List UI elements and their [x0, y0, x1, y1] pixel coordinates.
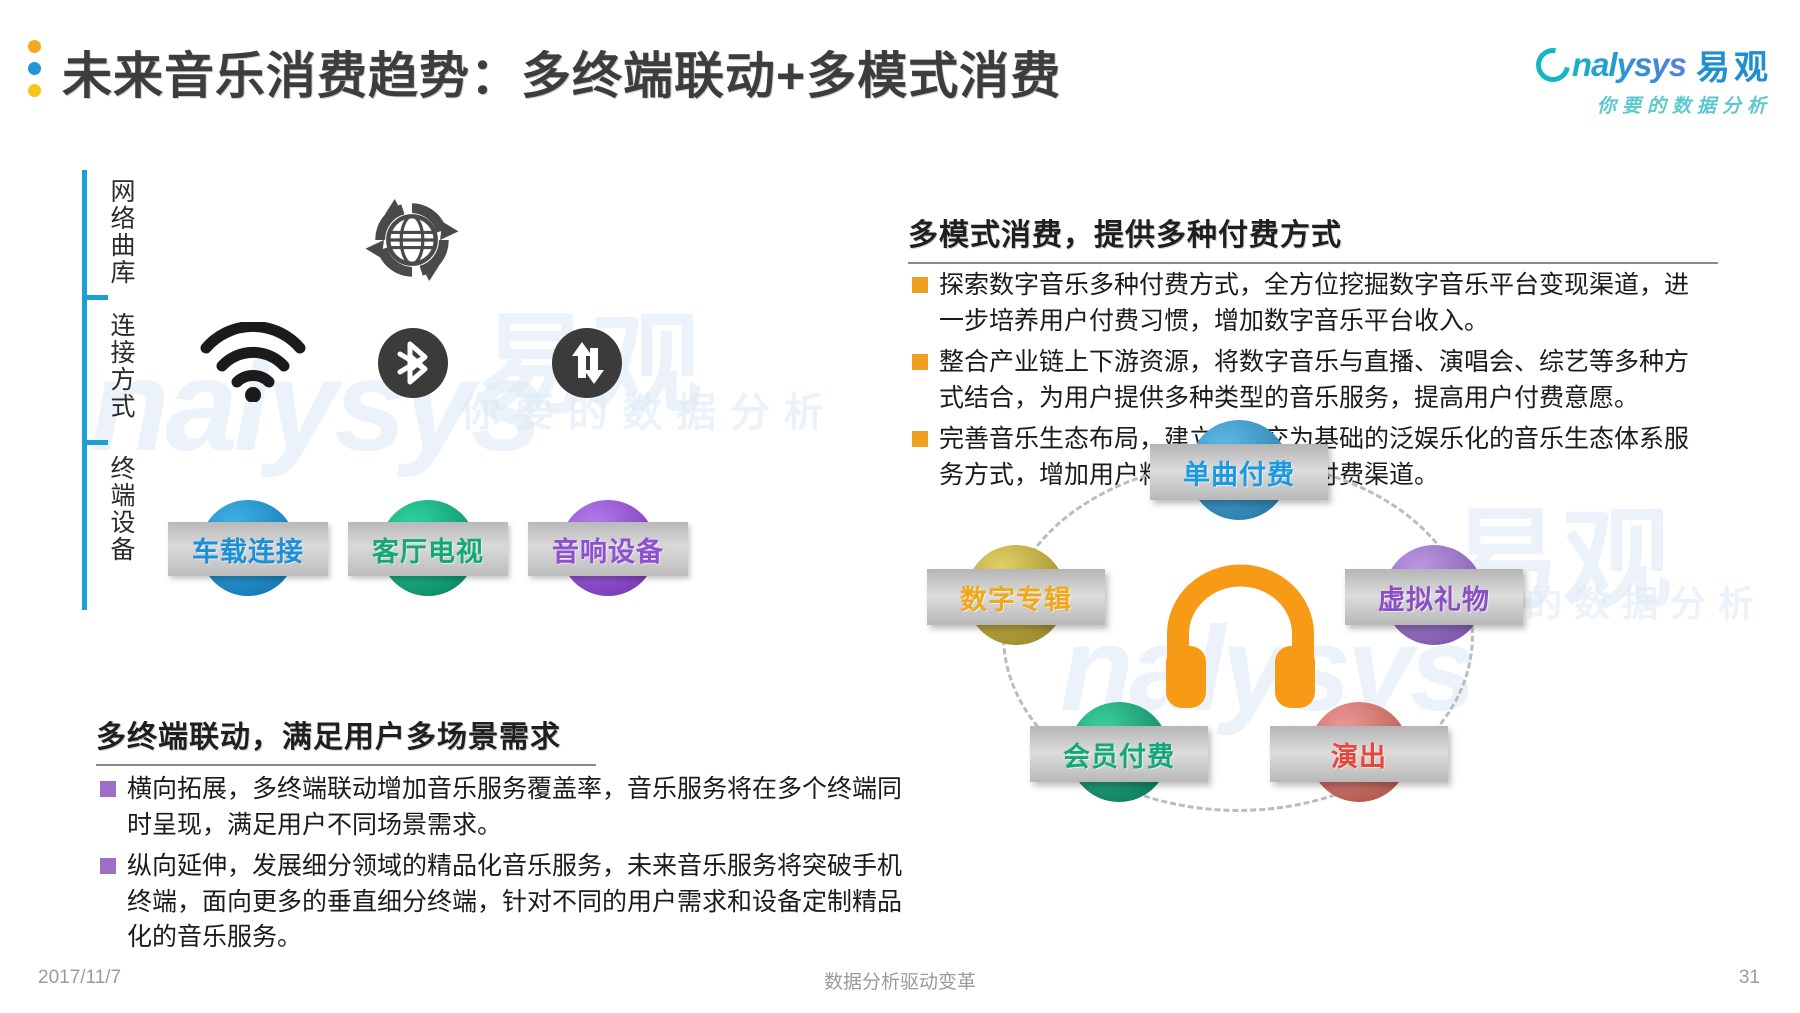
node-label: 演出: [1331, 735, 1387, 774]
node-label: 数字专辑: [960, 578, 1072, 617]
device-badge-tv[interactable]: 客厅电视: [348, 500, 508, 596]
logo-mark-icon: [1529, 41, 1576, 88]
list-item: 探索数字音乐多种付费方式，全方位挖掘数字音乐平台变现渠道，进一步培养用户付费习惯…: [912, 268, 1712, 339]
payment-cycle-diagram: 单曲付费 虚拟礼物 演出 会员付费 数字: [960, 430, 1520, 850]
bullet-marker-icon: [100, 781, 116, 797]
page-title: 未来音乐消费趋势：多终端联动+多模式消费: [62, 36, 1061, 108]
list-item: 整合产业链上下游资源，将数字音乐与直播、演唱会、综艺等多种方式结合，为用户提供多…: [912, 345, 1712, 416]
device-badge-speaker[interactable]: 音响设备: [528, 500, 688, 596]
right-section-heading: 多模式消费，提供多种付费方式: [908, 210, 1718, 264]
header-dots-decoration: [28, 40, 42, 106]
bullet-marker-icon: [912, 354, 928, 370]
device-label: 车载连接: [192, 530, 304, 569]
node-label: 会员付费: [1063, 735, 1175, 774]
device-ribbon: 客厅电视: [348, 522, 508, 576]
slide-root: nalysys 易观 你要的数据分析 nalysys 易观 你要的数据分析 未来…: [0, 0, 1800, 1013]
logo-text-cn: 易观: [1696, 40, 1772, 89]
bluetooth-icon: [378, 328, 448, 398]
logo-tagline: 你要的数据分析: [1536, 91, 1772, 118]
axis-label-terminal-devices: 终端设备: [92, 455, 134, 567]
left-section-rule: [96, 764, 596, 766]
headphone-icon: [1158, 550, 1323, 710]
axis-label-connection-method: 连接方式: [92, 312, 134, 424]
cycle-node-virtual-gift[interactable]: 虚拟礼物: [1345, 545, 1523, 645]
bullet-marker-icon: [100, 858, 116, 874]
node-ribbon: 单曲付费: [1150, 444, 1328, 500]
brand-logo: nalysys 易观 你要的数据分析: [1536, 40, 1772, 118]
cycle-node-digital-album[interactable]: 数字专辑: [927, 545, 1105, 645]
bullet-marker-icon: [912, 431, 928, 447]
footer-page-number: 31: [1739, 967, 1760, 989]
device-badge-car[interactable]: 车载连接: [168, 500, 328, 596]
cycle-node-membership-payment[interactable]: 会员付费: [1030, 702, 1208, 802]
list-item: 横向拓展，多终端联动增加音乐服务覆盖率，音乐服务将在多个终端同时呈现，满足用户不…: [100, 772, 920, 843]
node-label: 虚拟礼物: [1378, 578, 1490, 617]
list-item: 纵向延伸，发展细分领域的精品化音乐服务，未来音乐服务将突破手机终端，面向更多的垂…: [100, 849, 920, 956]
dot-blue: [28, 62, 41, 75]
device-label: 音响设备: [552, 530, 664, 569]
cycle-node-live-performance[interactable]: 演出: [1270, 702, 1448, 802]
right-section-title: 多模式消费，提供多种付费方式: [908, 210, 1718, 254]
category-axis-line: [82, 170, 87, 610]
node-ribbon: 演出: [1270, 726, 1448, 782]
node-ribbon: 虚拟礼物: [1345, 569, 1523, 625]
device-ribbon: 车载连接: [168, 522, 328, 576]
left-section-heading: 多终端联动，满足用户多场景需求: [96, 712, 596, 766]
globe-sync-icon: [358, 186, 466, 294]
node-ribbon: 会员付费: [1030, 726, 1208, 782]
data-transfer-icon: [552, 328, 622, 398]
footer-tagline: 数据分析驱动变革: [0, 967, 1800, 994]
device-label: 客厅电视: [372, 530, 484, 569]
watermark-tagline: 你要的数据分析: [460, 380, 838, 438]
bullet-text: 探索数字音乐多种付费方式，全方位挖掘数字音乐平台变现渠道，进一步培养用户付费习惯…: [939, 268, 1712, 339]
left-section-title: 多终端联动，满足用户多场景需求: [96, 712, 596, 756]
slide-footer: 2017/11/7 数据分析驱动变革 31: [0, 967, 1800, 991]
axis-tick-1: [82, 295, 108, 300]
bullet-text: 纵向延伸，发展细分领域的精品化音乐服务，未来音乐服务将突破手机终端，面向更多的垂…: [127, 849, 920, 956]
bullet-text: 横向拓展，多终端联动增加音乐服务覆盖率，音乐服务将在多个终端同时呈现，满足用户不…: [127, 772, 920, 843]
bullet-marker-icon: [912, 277, 928, 293]
node-ribbon: 数字专辑: [927, 569, 1105, 625]
device-ribbon: 音响设备: [528, 522, 688, 576]
right-section-rule: [908, 262, 1718, 264]
dot-yellow: [28, 84, 41, 97]
wifi-icon: [198, 322, 308, 400]
cycle-node-single-track-payment[interactable]: 单曲付费: [1150, 420, 1328, 520]
left-bullet-list: 横向拓展，多终端联动增加音乐服务覆盖率，音乐服务将在多个终端同时呈现，满足用户不…: [100, 772, 920, 962]
dot-orange: [28, 40, 41, 53]
node-label: 单曲付费: [1183, 453, 1295, 492]
bullet-text: 整合产业链上下游资源，将数字音乐与直播、演唱会、综艺等多种方式结合，为用户提供多…: [939, 345, 1712, 416]
axis-tick-2: [82, 440, 108, 445]
watermark-brand: nalysys: [90, 330, 539, 480]
axis-label-network-library: 网络曲库: [92, 178, 134, 290]
logo-text-en: nalysys: [1572, 46, 1686, 84]
